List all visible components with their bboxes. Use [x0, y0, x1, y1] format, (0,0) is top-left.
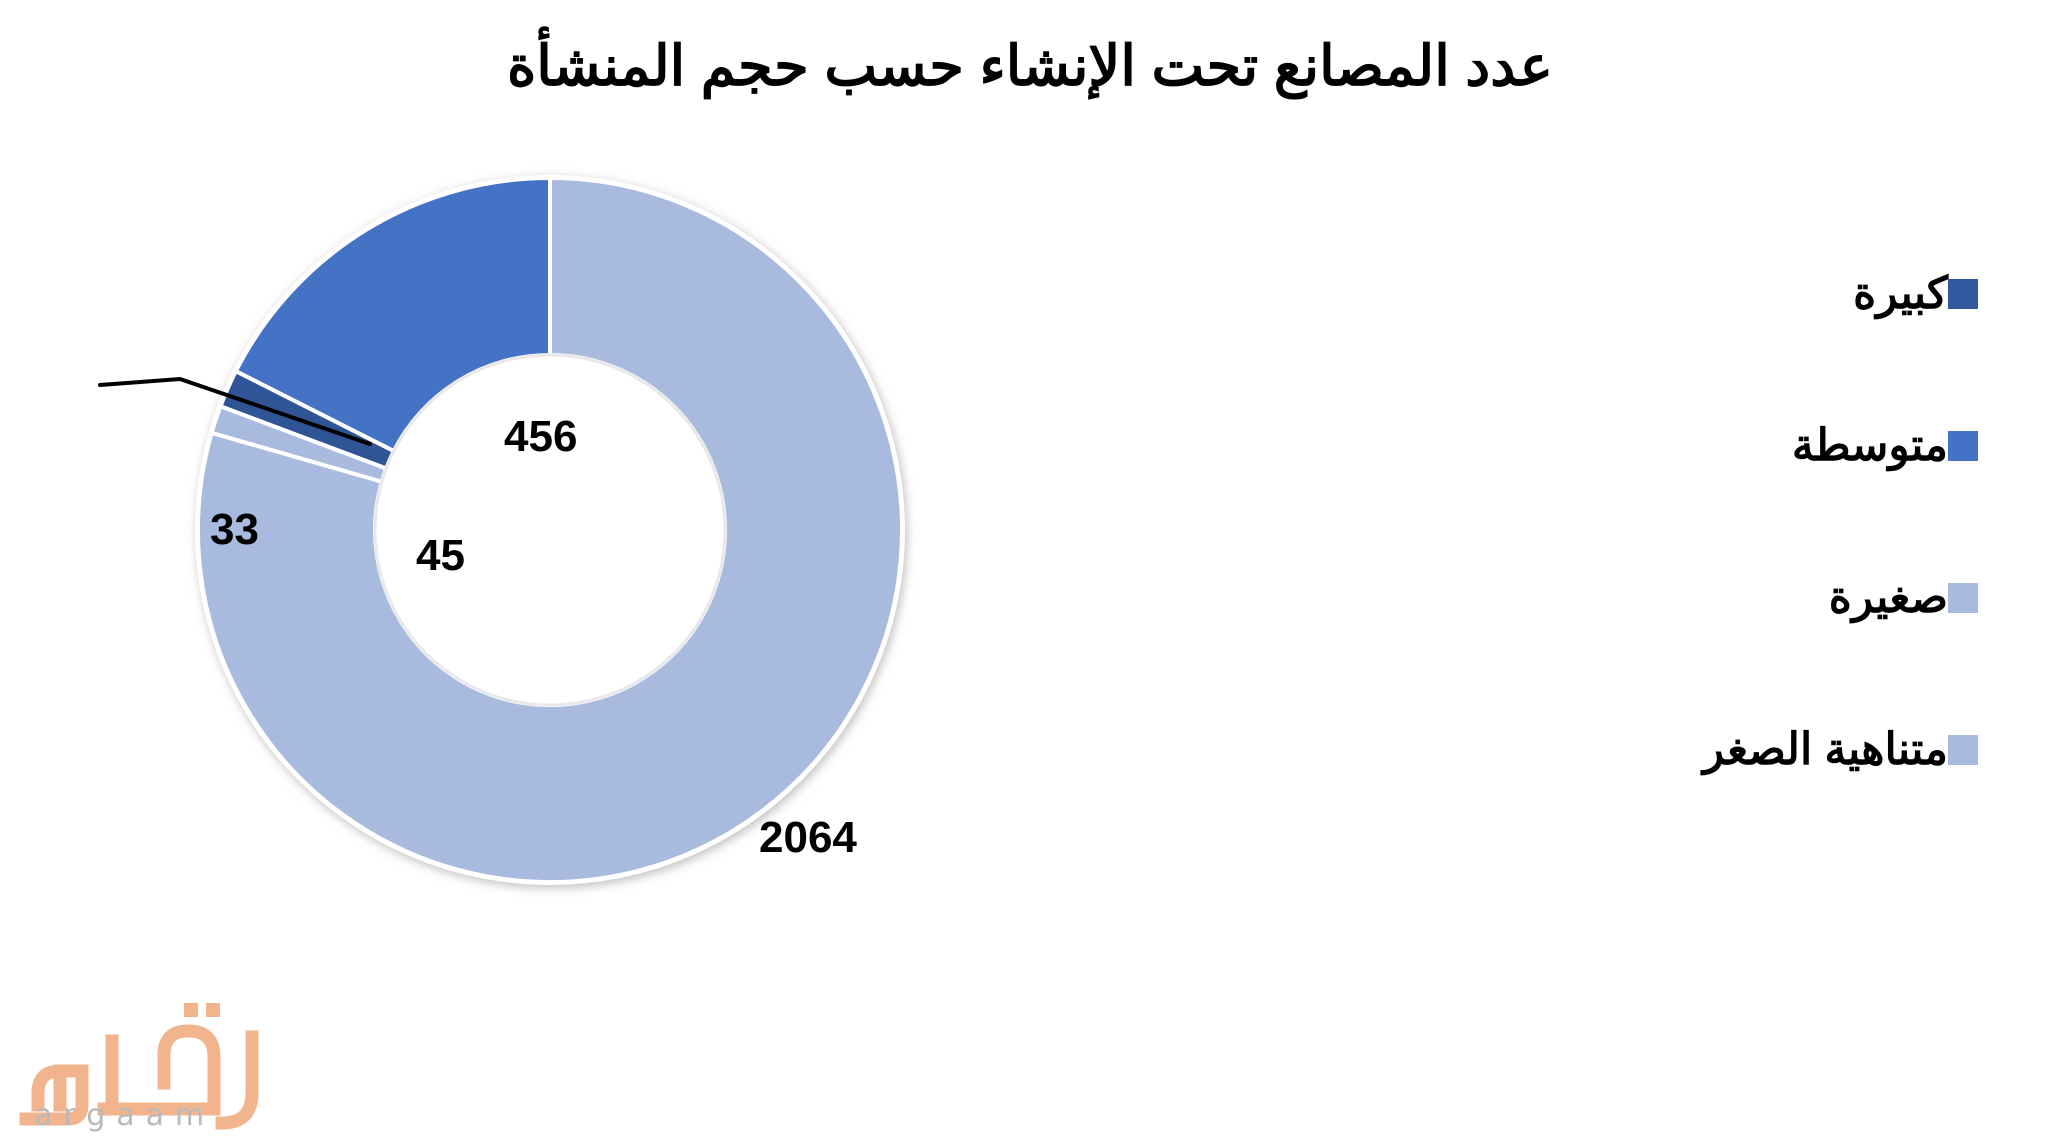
legend-label-small: صغيرة — [1829, 576, 1948, 620]
argaam-wordmark: argaam — [34, 1098, 215, 1133]
legend-label-micro: متناهية الصغر — [1703, 728, 1948, 772]
legend-swatch-small-icon — [1948, 583, 1978, 613]
donut-chart: 456 45 33 2064 — [170, 150, 930, 910]
legend-swatch-micro-icon — [1948, 735, 1978, 765]
donut-chart-svg — [170, 150, 930, 910]
slice-value-medium: 456 — [504, 412, 577, 462]
argaam-watermark: argaam — [8, 997, 268, 1139]
slice-value-large: 45 — [416, 531, 465, 581]
legend-item-large[interactable]: كبيرة — [1524, 218, 2004, 370]
donut-hole — [375, 355, 725, 705]
legend-item-small[interactable]: صغيرة — [1524, 522, 2004, 674]
legend-item-micro[interactable]: متناهية الصغر — [1524, 674, 2004, 826]
slice-value-micro: 2064 — [759, 813, 857, 863]
slice-value-small: 33 — [210, 505, 259, 555]
page-title: عدد المصانع تحت الإنشاء حسب حجم المنشأة — [0, 34, 2060, 98]
legend-label-large: كبيرة — [1853, 272, 1948, 316]
legend-swatch-medium-icon — [1948, 431, 1978, 461]
legend-label-medium: متوسطة — [1792, 424, 1948, 468]
chart-legend: كبيرة متوسطة صغيرة متناهية الصغر — [1524, 218, 2004, 826]
legend-item-medium[interactable]: متوسطة — [1524, 370, 2004, 522]
legend-swatch-large-icon — [1948, 279, 1978, 309]
